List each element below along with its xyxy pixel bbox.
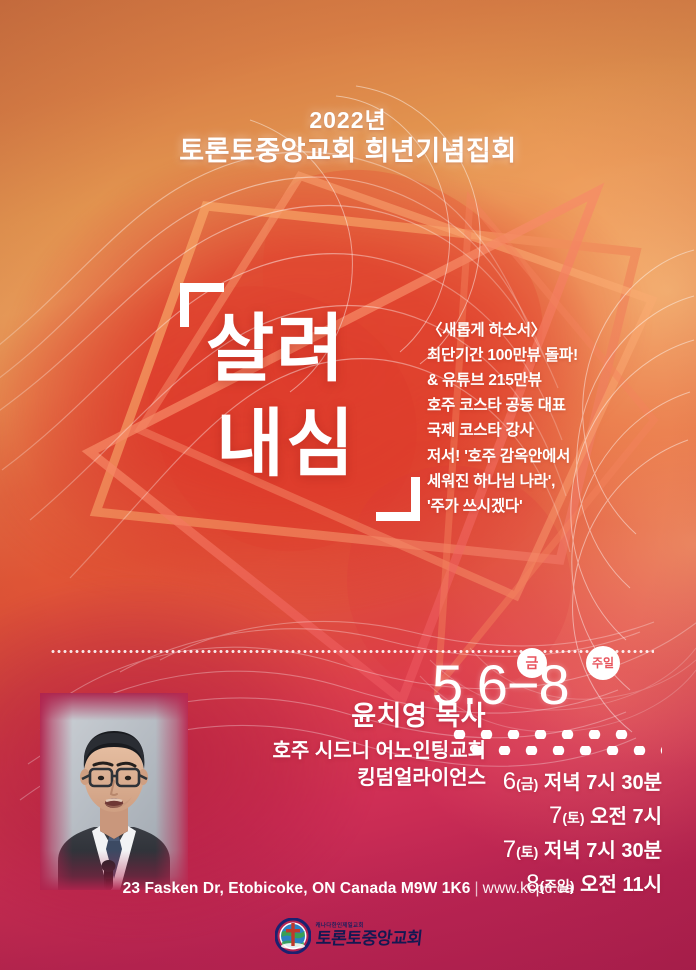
credential-line: 〈새롭게 하소서〉	[427, 318, 627, 343]
credential-line: '주가 쓰시겠다'	[427, 494, 627, 519]
poster-root: 2022년 토론토중앙교회 희년기념집회 살려 내심 〈새롭게 하소서〉 최단기…	[0, 0, 696, 970]
poster-header: 2022년 토론토중앙교회 희년기념집회	[0, 106, 696, 169]
schedule-time: 오전 7시	[590, 806, 662, 828]
logo-text: 캐나다한인제일교회 토론토중앙교회	[316, 924, 422, 948]
footer-contact: 23 Fasken Dr, Etobicoke, ON Canada M9W 1…	[0, 880, 696, 898]
credential-line: 최단기간 100만뷰 돌파!	[427, 343, 627, 368]
credential-line: 호주 코스타 공동 대표	[427, 393, 627, 418]
schedule-row: 6(금) 저녁 7시 30분	[362, 765, 662, 799]
globe-cross-logo-icon	[275, 918, 311, 954]
footer-separator: |	[475, 880, 479, 897]
header-year: 2022년	[0, 106, 696, 134]
event-date-text: 5.6−8	[432, 652, 569, 717]
day-badge-end: 주일	[586, 646, 620, 680]
schedule-day: 6	[503, 768, 516, 795]
speaker-credentials-block: 〈새롭게 하소서〉 최단기간 100만뷰 돌파! & 유튜브 215만뷰 호주 …	[427, 318, 627, 519]
schedule-weekday: (금)	[516, 776, 538, 792]
bracket-bottom-right-icon	[376, 477, 420, 521]
dot-row-bottom	[464, 746, 662, 755]
credential-line: & 유튜브 215만뷰	[427, 368, 627, 393]
day-badge-start: 금	[517, 648, 547, 678]
schedule-day: 7	[503, 836, 516, 863]
credential-line: 세워진 하나님 나라',	[427, 469, 627, 494]
credential-line: 저서! '호주 감옥안에서	[427, 444, 627, 469]
schedule-weekday: (토)	[516, 844, 538, 860]
speaker-photo	[40, 693, 188, 890]
event-date-block: 5.6−8 금 주일	[432, 652, 642, 722]
dot-decoration	[446, 730, 661, 760]
schedule-row: 7(토) 오전 7시	[362, 799, 662, 833]
schedule-day: 7	[549, 802, 562, 829]
schedule-time: 저녁 7시 30분	[544, 772, 662, 794]
footer-website[interactable]: www.kcpc.ca	[483, 880, 574, 897]
schedule-time: 저녁 7시 30분	[544, 840, 662, 862]
speaker-affiliation-line1: 호주 시드니 어노인팅교회	[196, 738, 486, 765]
speaker-photo-fade	[40, 693, 188, 890]
header-title: 토론토중앙교회 희년기념집회	[0, 134, 696, 169]
schedule-weekday: (토)	[562, 810, 584, 826]
schedule-row: 7(토) 저녁 7시 30분	[362, 833, 662, 867]
footer-address: 23 Fasken Dr, Etobicoke, ON Canada M9W 1…	[123, 880, 471, 897]
main-title: 살려 내심	[206, 313, 402, 480]
main-title-line1: 살려	[206, 313, 402, 386]
main-title-line2: 내심	[216, 408, 402, 481]
credential-line: 국제 코스타 강사	[427, 418, 627, 443]
logo-name: 토론토중앙교회	[315, 931, 423, 948]
dot-row-top	[446, 730, 634, 739]
church-logo: 캐나다한인제일교회 토론토중앙교회	[0, 918, 696, 954]
